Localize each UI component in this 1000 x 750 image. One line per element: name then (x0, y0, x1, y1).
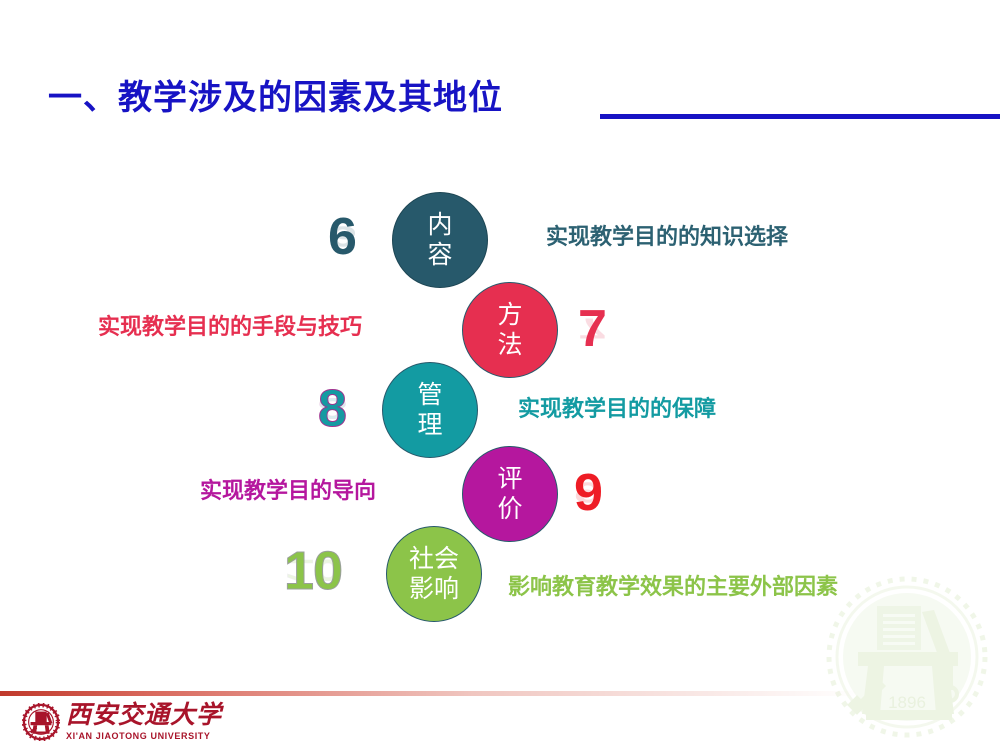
bubble-method-line1: 方 (497, 300, 522, 330)
bubble-number-8: 8 8 (318, 380, 346, 438)
bubble-number-7-reflection: 7 (578, 312, 606, 344)
bubble-label-management: 实现教学目的的保障 (518, 394, 716, 424)
bubble-number-9-reflection: 9 (574, 476, 602, 508)
university-name-en: XI'AN JIAOTONG UNIVERSITY (66, 730, 222, 742)
diagram-row-social-influence: 10 10 社会 影响 影响教育教学效果的主要外部因素 (0, 160, 1000, 270)
slide-canvas: 1896 一、教学涉及的因素及其地位 6 6 内 容 实现教学目的的知识选择 实… (0, 0, 1000, 750)
university-logo-text: 西安交通大学 XI'AN JIAOTONG UNIVERSITY (66, 703, 222, 742)
emblem-year: 1896 (888, 693, 926, 712)
bubble-management-line2: 理 (417, 410, 442, 440)
title-underline-rule (600, 114, 1000, 119)
page-title: 一、教学涉及的因素及其地位 (48, 76, 503, 120)
footer-divider (0, 691, 860, 696)
university-name-cn: 西安交通大学 (66, 703, 222, 729)
bubble-label-social-influence: 影响教育教学效果的主要外部因素 (508, 572, 838, 602)
bubble-social-influence-line2: 影响 (409, 574, 459, 604)
university-logo: 西安交通大学 XI'AN JIAOTONG UNIVERSITY (22, 700, 222, 744)
bubble-number-7: 7 7 (578, 300, 606, 358)
bubble-evaluation[interactable]: 评 价 (462, 446, 558, 542)
bubble-method[interactable]: 方 法 (462, 282, 558, 378)
bubble-management[interactable]: 管 理 (382, 362, 478, 458)
bubble-number-8-reflection: 8 (318, 392, 346, 424)
bubble-label-method: 实现教学目的的手段与技巧 (98, 312, 362, 342)
factor-bubble-diagram: 6 6 内 容 实现教学目的的知识选择 实现教学目的的手段与技巧 方 法 7 7 (0, 160, 1000, 660)
bubble-number-9: 9 9 (574, 464, 602, 522)
bubble-number-10: 10 10 (284, 542, 342, 600)
university-seal-icon (22, 703, 60, 741)
title-row: 一、教学涉及的因素及其地位 (0, 76, 1000, 126)
bubble-social-influence[interactable]: 社会 影响 (386, 526, 482, 622)
bubble-evaluation-line1: 评 (497, 464, 522, 494)
bubble-label-evaluation: 实现教学目的导向 (200, 476, 376, 506)
bubble-social-influence-line1: 社会 (409, 544, 459, 574)
bubble-management-line1: 管 (417, 380, 442, 410)
bubble-method-line2: 法 (497, 330, 522, 360)
bubble-number-10-reflection: 10 (284, 554, 342, 586)
bubble-evaluation-line2: 价 (497, 494, 522, 524)
